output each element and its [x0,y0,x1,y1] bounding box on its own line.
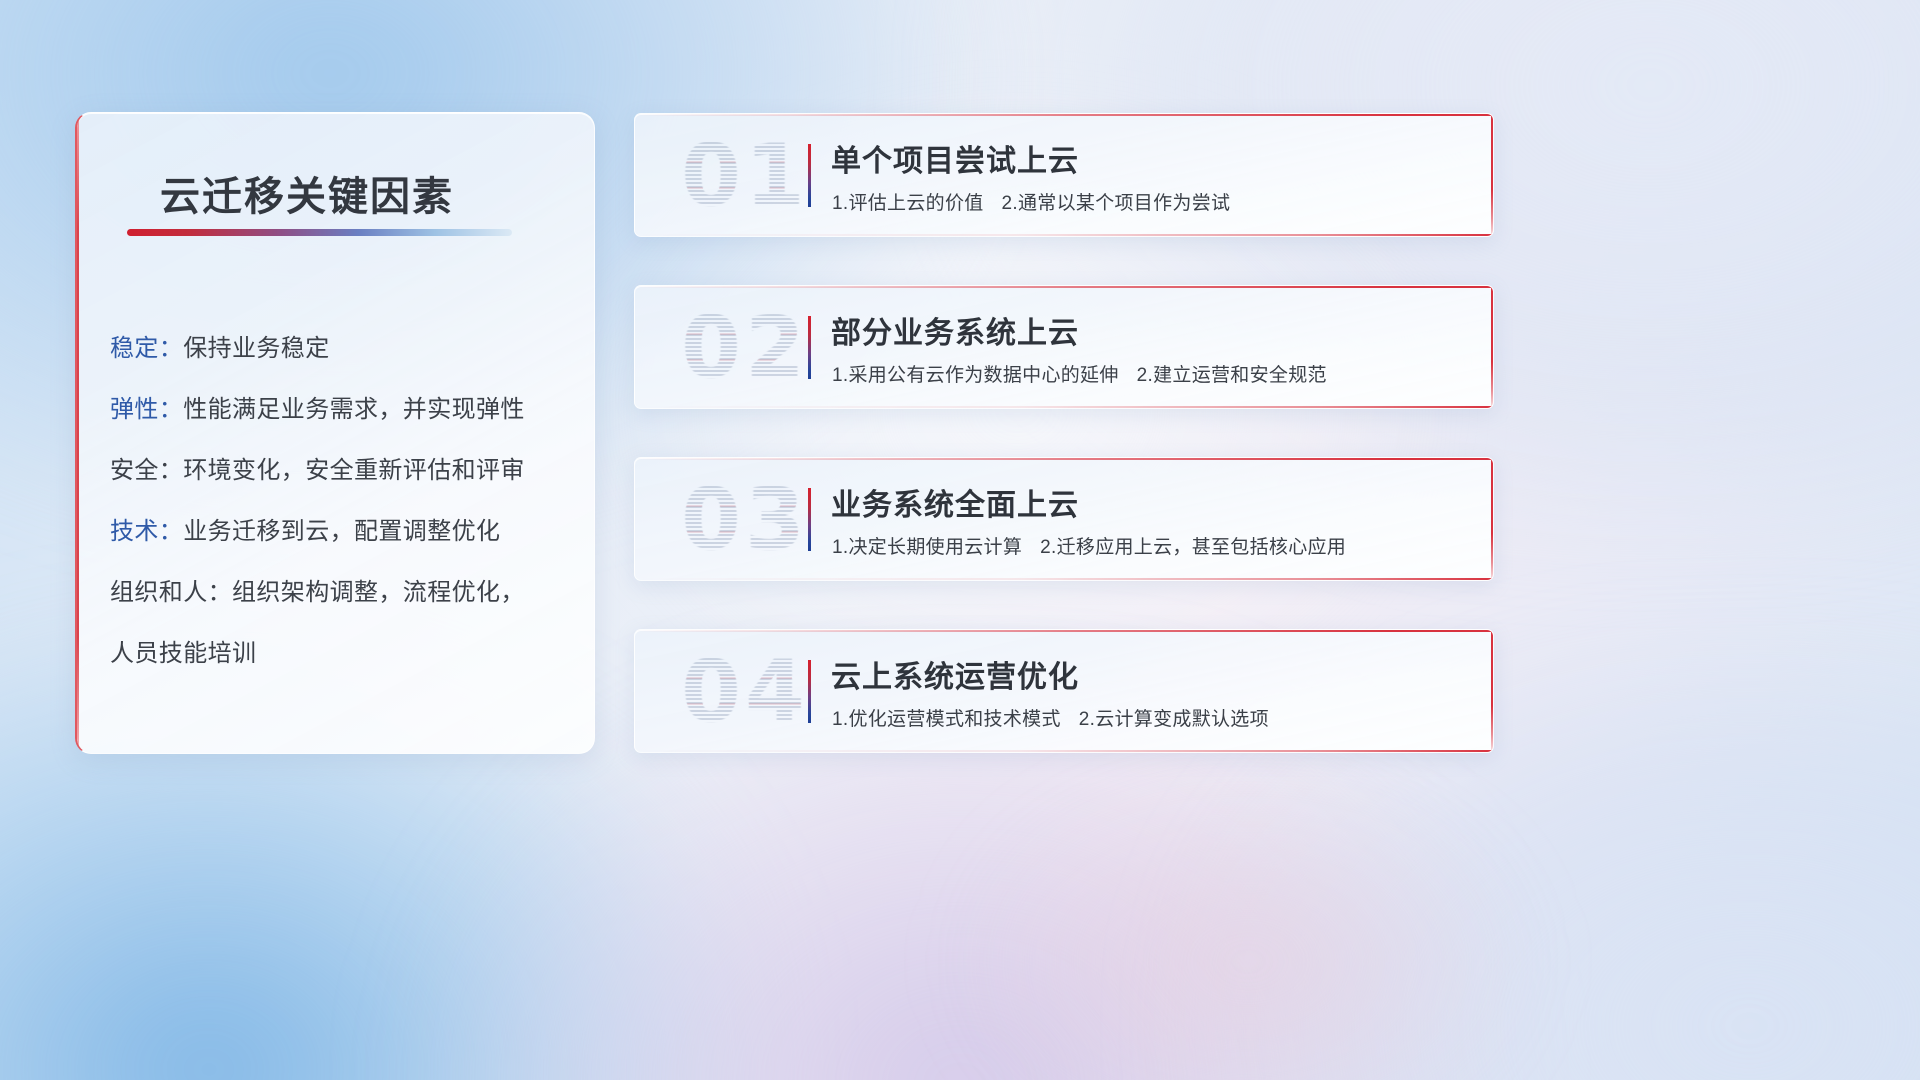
card-top-accent [635,630,1493,632]
card-bottom-accent [635,578,1493,580]
card-title: 业务系统全面上云 [831,480,1079,524]
card-point-2: 2.迁移应用上云，甚至包括核心应用 [1040,537,1346,558]
card-right-accent [1491,630,1493,752]
card-description: 1.评估上云的价值2.通常以某个项目作为尝试 [832,188,1230,215]
stage-card-04[interactable]: 04 04 云上系统运营优化 1.优化运营模式和技术模式2.云计算变成默认选项 [634,629,1494,753]
stage-card-03[interactable]: 03 03 业务系统全面上云 1.决定长期使用云计算2.迁移应用上云，甚至包括核… [634,457,1494,581]
list-item-value: 组织架构调整，流程优化， [232,579,525,606]
list-item-value: 环境变化，安全重新评估和评审 [183,457,525,484]
card-number-watermark-tint: 03 [659,470,831,570]
list-item-key: 组织和人： [110,579,232,606]
card-point-1: 1.优化运营模式和技术模式 [832,709,1061,730]
card-right-accent [1491,458,1493,580]
card-point-1: 1.决定长期使用云计算 [832,537,1022,558]
card-title: 部分业务系统上云 [831,308,1079,352]
card-divider-bar [808,316,811,379]
card-point-1: 1.评估上云的价值 [832,193,984,214]
card-divider-bar [808,144,811,207]
list-item: 稳定：保持业务稳定 [110,318,572,379]
list-item-value: 保持业务稳定 [183,335,329,362]
card-title: 单个项目尝试上云 [831,136,1079,180]
card-top-accent [635,114,1493,116]
slide-stage: 云迁移关键因素 稳定：保持业务稳定 弹性：性能满足业务需求，并实现弹性 安全：环… [0,0,1920,1080]
list-item-key: 弹性： [110,396,183,423]
card-point-1: 1.采用公有云作为数据中心的延伸 [832,365,1119,386]
card-bottom-accent [635,406,1493,408]
page-title: 云迁移关键因素 [160,164,454,222]
card-divider-bar [808,488,811,551]
list-item-value: 业务迁移到云，配置调整优化 [183,518,500,545]
card-top-accent [635,458,1493,460]
card-description: 1.优化运营模式和技术模式2.云计算变成默认选项 [832,704,1269,731]
key-factors-list: 稳定：保持业务稳定 弹性：性能满足业务需求，并实现弹性 安全：环境变化，安全重新… [110,318,572,684]
list-item-key: 技术： [110,518,183,545]
card-description: 1.采用公有云作为数据中心的延伸2.建立运营和安全规范 [832,360,1327,387]
card-point-2: 2.通常以某个项目作为尝试 [1002,193,1231,214]
card-title: 云上系统运营优化 [831,652,1079,696]
card-number-watermark-tint: 02 [659,298,831,398]
card-divider-bar [808,660,811,723]
key-factors-panel: 云迁移关键因素 稳定：保持业务稳定 弹性：性能满足业务需求，并实现弹性 安全：环… [75,112,595,754]
title-underline-gradient [127,229,512,236]
card-point-2: 2.建立运营和安全规范 [1137,365,1327,386]
list-item-key: 稳定： [110,335,183,362]
card-bottom-accent [635,750,1493,752]
card-top-accent [635,286,1493,288]
list-item: 安全：环境变化，安全重新评估和评审 [110,440,572,501]
card-number-watermark-tint: 01 [659,126,831,226]
list-item-key: 安全： [110,457,183,484]
list-item: 组织和人：组织架构调整，流程优化， [110,562,572,623]
list-item-value: 人员技能培训 [110,640,256,667]
card-right-accent [1491,286,1493,408]
stage-card-01[interactable]: 01 01 单个项目尝试上云 1.评估上云的价值2.通常以某个项目作为尝试 [634,113,1494,237]
card-right-accent [1491,114,1493,236]
list-item-value: 性能满足业务需求，并实现弹性 [183,396,525,423]
list-item-continuation: 人员技能培训 [110,623,572,684]
card-description: 1.决定长期使用云计算2.迁移应用上云，甚至包括核心应用 [832,532,1346,559]
list-item: 技术：业务迁移到云，配置调整优化 [110,501,572,562]
card-bottom-accent [635,234,1493,236]
list-item: 弹性：性能满足业务需求，并实现弹性 [110,379,572,440]
card-number-watermark-tint: 04 [659,642,831,742]
stage-card-02[interactable]: 02 02 部分业务系统上云 1.采用公有云作为数据中心的延伸2.建立运营和安全… [634,285,1494,409]
card-point-2: 2.云计算变成默认选项 [1079,709,1269,730]
